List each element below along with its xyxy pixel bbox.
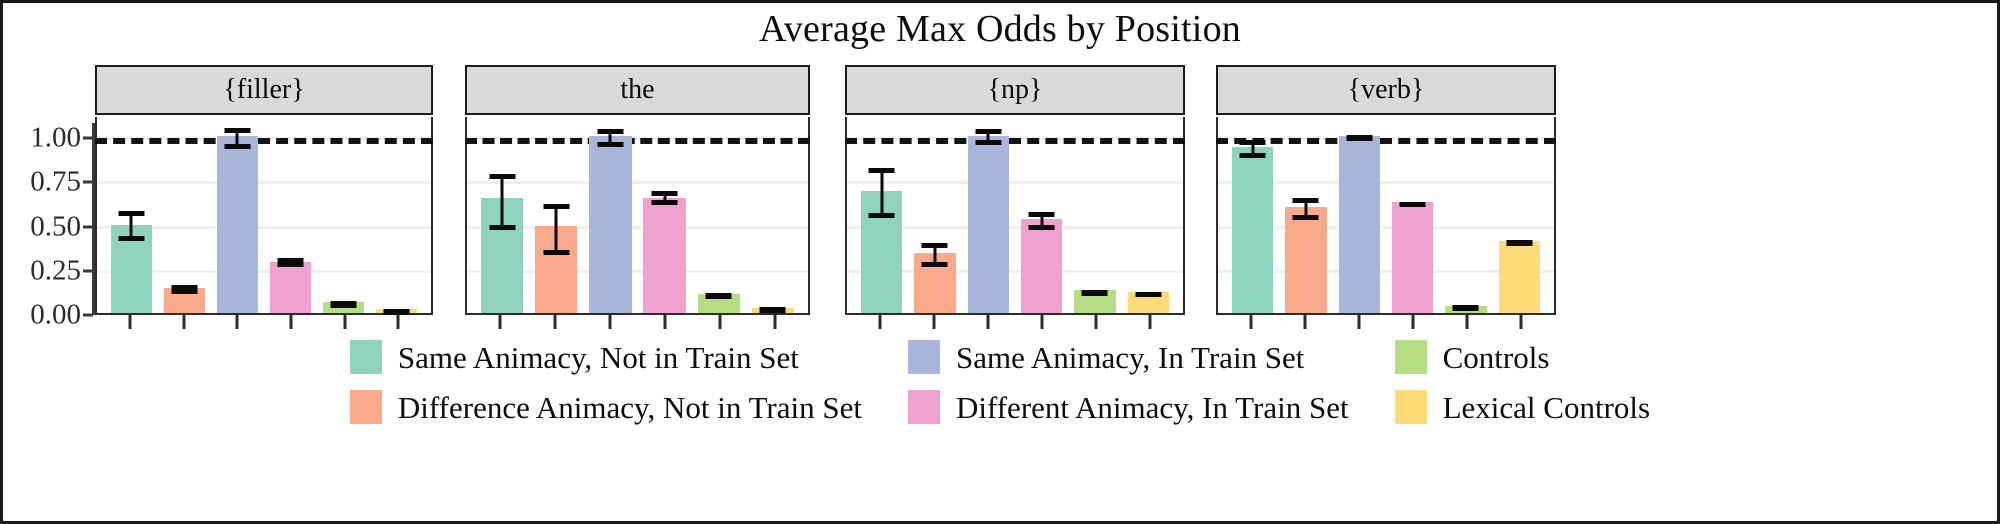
bar-slot bbox=[914, 117, 956, 313]
error-bar bbox=[183, 285, 186, 294]
bar-slot bbox=[164, 117, 205, 313]
x-axis-tick-mark bbox=[1250, 315, 1253, 329]
y-axis-tick-label: 0.00 bbox=[30, 299, 81, 332]
bar-group bbox=[97, 117, 431, 313]
bar-slot bbox=[323, 117, 364, 313]
y-axis-tick-label: 0.75 bbox=[30, 166, 81, 199]
bar-slot bbox=[1445, 117, 1487, 313]
legend-swatch bbox=[1395, 340, 1427, 374]
error-bar bbox=[342, 301, 345, 308]
error-bar bbox=[1464, 306, 1467, 310]
bar-group bbox=[1218, 117, 1554, 313]
facet-panel: {verb} bbox=[1216, 65, 1556, 315]
facet-plot-body bbox=[465, 117, 810, 315]
x-axis-tick-mark bbox=[773, 315, 776, 329]
bar[interactable] bbox=[1392, 202, 1434, 313]
error-bar bbox=[1518, 241, 1521, 245]
bar-slot bbox=[698, 117, 740, 313]
error-bar bbox=[663, 191, 666, 205]
bar-slot bbox=[643, 117, 685, 313]
x-axis-tick-mark bbox=[718, 315, 721, 329]
bar[interactable] bbox=[1499, 241, 1541, 313]
bar-slot bbox=[1128, 117, 1170, 313]
error-bar bbox=[717, 294, 720, 298]
facet-strip-label: {filler} bbox=[223, 76, 304, 104]
page-title: Average Max Odds by Position bbox=[3, 7, 1997, 51]
bar-slot bbox=[376, 117, 417, 313]
facet-plot-body bbox=[1216, 117, 1556, 315]
legend-label: Same Animacy, Not in Train Set bbox=[398, 342, 799, 373]
bar[interactable] bbox=[1285, 207, 1327, 313]
bar-slot bbox=[861, 117, 903, 313]
error-bar bbox=[1040, 212, 1043, 230]
bar-slot bbox=[1021, 117, 1063, 313]
error-bar bbox=[987, 129, 990, 145]
bar-slot bbox=[270, 117, 311, 313]
error-bar bbox=[1093, 290, 1096, 295]
error-bar bbox=[771, 308, 774, 312]
error-bar bbox=[1411, 202, 1414, 207]
error-bar bbox=[1304, 198, 1307, 219]
legend-item[interactable]: Different Animacy, In Train Set bbox=[908, 383, 1349, 431]
bar-group bbox=[467, 117, 808, 313]
error-bar bbox=[933, 243, 936, 268]
legend-item[interactable]: Same Animacy, Not in Train Set bbox=[350, 333, 862, 381]
plot-area: 1.000.750.500.250.00 {filler}the{np}{ver… bbox=[3, 65, 2000, 315]
x-axis-tick-mark bbox=[128, 315, 131, 329]
legend: Same Animacy, Not in Train SetSame Anima… bbox=[3, 333, 1997, 453]
error-bar bbox=[1251, 140, 1254, 158]
facet-strip-the: the bbox=[465, 65, 810, 115]
facet-strip-label: {verb} bbox=[1348, 76, 1425, 104]
facet-strip-label: {np} bbox=[988, 76, 1043, 104]
facet-strip-verb: {verb} bbox=[1216, 65, 1556, 115]
x-axis-tick-mark bbox=[933, 315, 936, 329]
legend-item[interactable]: Controls bbox=[1395, 333, 1650, 381]
error-bar bbox=[130, 211, 133, 241]
bar[interactable] bbox=[589, 136, 631, 313]
bar-slot bbox=[1499, 117, 1541, 313]
x-axis-tick-mark bbox=[609, 315, 612, 329]
facet-strip-np: {np} bbox=[845, 65, 1185, 115]
legend-swatch bbox=[350, 340, 382, 374]
facet-strip-filler: {filler} bbox=[95, 65, 433, 115]
legend-swatch bbox=[908, 390, 940, 424]
x-axis-tick-mark bbox=[1412, 315, 1415, 329]
bar-slot bbox=[1232, 117, 1274, 313]
legend-item[interactable]: Same Animacy, In Train Set bbox=[908, 333, 1349, 381]
bar-slot bbox=[752, 117, 794, 313]
bar[interactable] bbox=[968, 136, 1010, 313]
x-axis-tick-mark bbox=[397, 315, 400, 329]
error-bar bbox=[609, 129, 612, 147]
legend-item[interactable]: Difference Animacy, Not in Train Set bbox=[350, 383, 862, 431]
x-axis-tick-mark bbox=[1466, 315, 1469, 329]
legend-label: Controls bbox=[1443, 342, 1550, 373]
facet-panel: the bbox=[465, 65, 810, 315]
facet-strip-label: the bbox=[620, 76, 654, 104]
error-bar bbox=[1147, 292, 1150, 297]
x-axis-tick-mark bbox=[1304, 315, 1307, 329]
legend-item[interactable]: Lexical Controls bbox=[1395, 383, 1650, 431]
bar[interactable] bbox=[1339, 136, 1381, 313]
error-bar bbox=[289, 258, 292, 267]
legend-label: Difference Animacy, Not in Train Set bbox=[398, 392, 862, 423]
chart-figure: Average Max Odds by Position 1.000.750.5… bbox=[0, 0, 2000, 524]
legend-label: Same Animacy, In Train Set bbox=[956, 342, 1304, 373]
facet-plot-body bbox=[845, 117, 1185, 315]
bar-slot bbox=[481, 117, 523, 313]
bar-slot bbox=[535, 117, 577, 313]
bar-slot bbox=[1074, 117, 1116, 313]
x-axis-tick-mark bbox=[1095, 315, 1098, 329]
facet-plot-body bbox=[95, 117, 433, 315]
legend-label: Different Animacy, In Train Set bbox=[956, 392, 1349, 423]
x-axis-ticks bbox=[1216, 315, 1556, 329]
bar[interactable] bbox=[1021, 219, 1063, 313]
y-axis-tick-label: 1.00 bbox=[30, 122, 81, 155]
error-bar bbox=[880, 168, 883, 218]
x-axis-tick-mark bbox=[1149, 315, 1152, 329]
x-axis-tick-mark bbox=[236, 315, 239, 329]
x-axis-ticks bbox=[845, 315, 1185, 329]
legend-grid: Same Animacy, Not in Train SetSame Anima… bbox=[350, 333, 1650, 453]
x-axis-tick-mark bbox=[1520, 315, 1523, 329]
x-axis-tick-mark bbox=[987, 315, 990, 329]
error-bar bbox=[395, 310, 398, 314]
legend-swatch bbox=[350, 390, 382, 424]
bar[interactable] bbox=[217, 136, 258, 313]
bar-slot bbox=[1285, 117, 1327, 313]
x-axis-tick-mark bbox=[182, 315, 185, 329]
x-axis-tick-mark bbox=[289, 315, 292, 329]
x-axis-ticks bbox=[465, 315, 810, 329]
bar-slot bbox=[968, 117, 1010, 313]
x-axis-ticks bbox=[95, 315, 433, 329]
bar-slot bbox=[589, 117, 631, 313]
y-axis-tick-label: 0.25 bbox=[30, 254, 81, 287]
x-axis-tick-mark bbox=[879, 315, 882, 329]
facet-panel: {filler} bbox=[95, 65, 433, 315]
x-axis-tick-mark bbox=[499, 315, 502, 329]
bar[interactable] bbox=[270, 262, 311, 313]
x-axis-tick-mark bbox=[554, 315, 557, 329]
bar[interactable] bbox=[1232, 147, 1274, 313]
y-axis: 1.000.750.500.250.00 bbox=[31, 65, 93, 315]
bar-group bbox=[847, 117, 1183, 313]
error-bar bbox=[1358, 136, 1361, 140]
bar-slot bbox=[217, 117, 258, 313]
x-axis-tick-mark bbox=[343, 315, 346, 329]
bar[interactable] bbox=[643, 198, 685, 313]
error-bar bbox=[236, 128, 239, 149]
x-axis-tick-mark bbox=[663, 315, 666, 329]
facet-panel: {np} bbox=[845, 65, 1185, 315]
bar-slot bbox=[1339, 117, 1381, 313]
legend-label: Lexical Controls bbox=[1443, 392, 1650, 423]
error-bar bbox=[555, 204, 558, 255]
error-bar bbox=[501, 174, 504, 231]
y-axis-tick-label: 0.50 bbox=[30, 210, 81, 243]
legend-swatch bbox=[1395, 390, 1427, 424]
bar-slot bbox=[111, 117, 152, 313]
legend-swatch bbox=[908, 340, 940, 374]
x-axis-tick-mark bbox=[1358, 315, 1361, 329]
bar-slot bbox=[1392, 117, 1434, 313]
x-axis-tick-mark bbox=[1041, 315, 1044, 329]
